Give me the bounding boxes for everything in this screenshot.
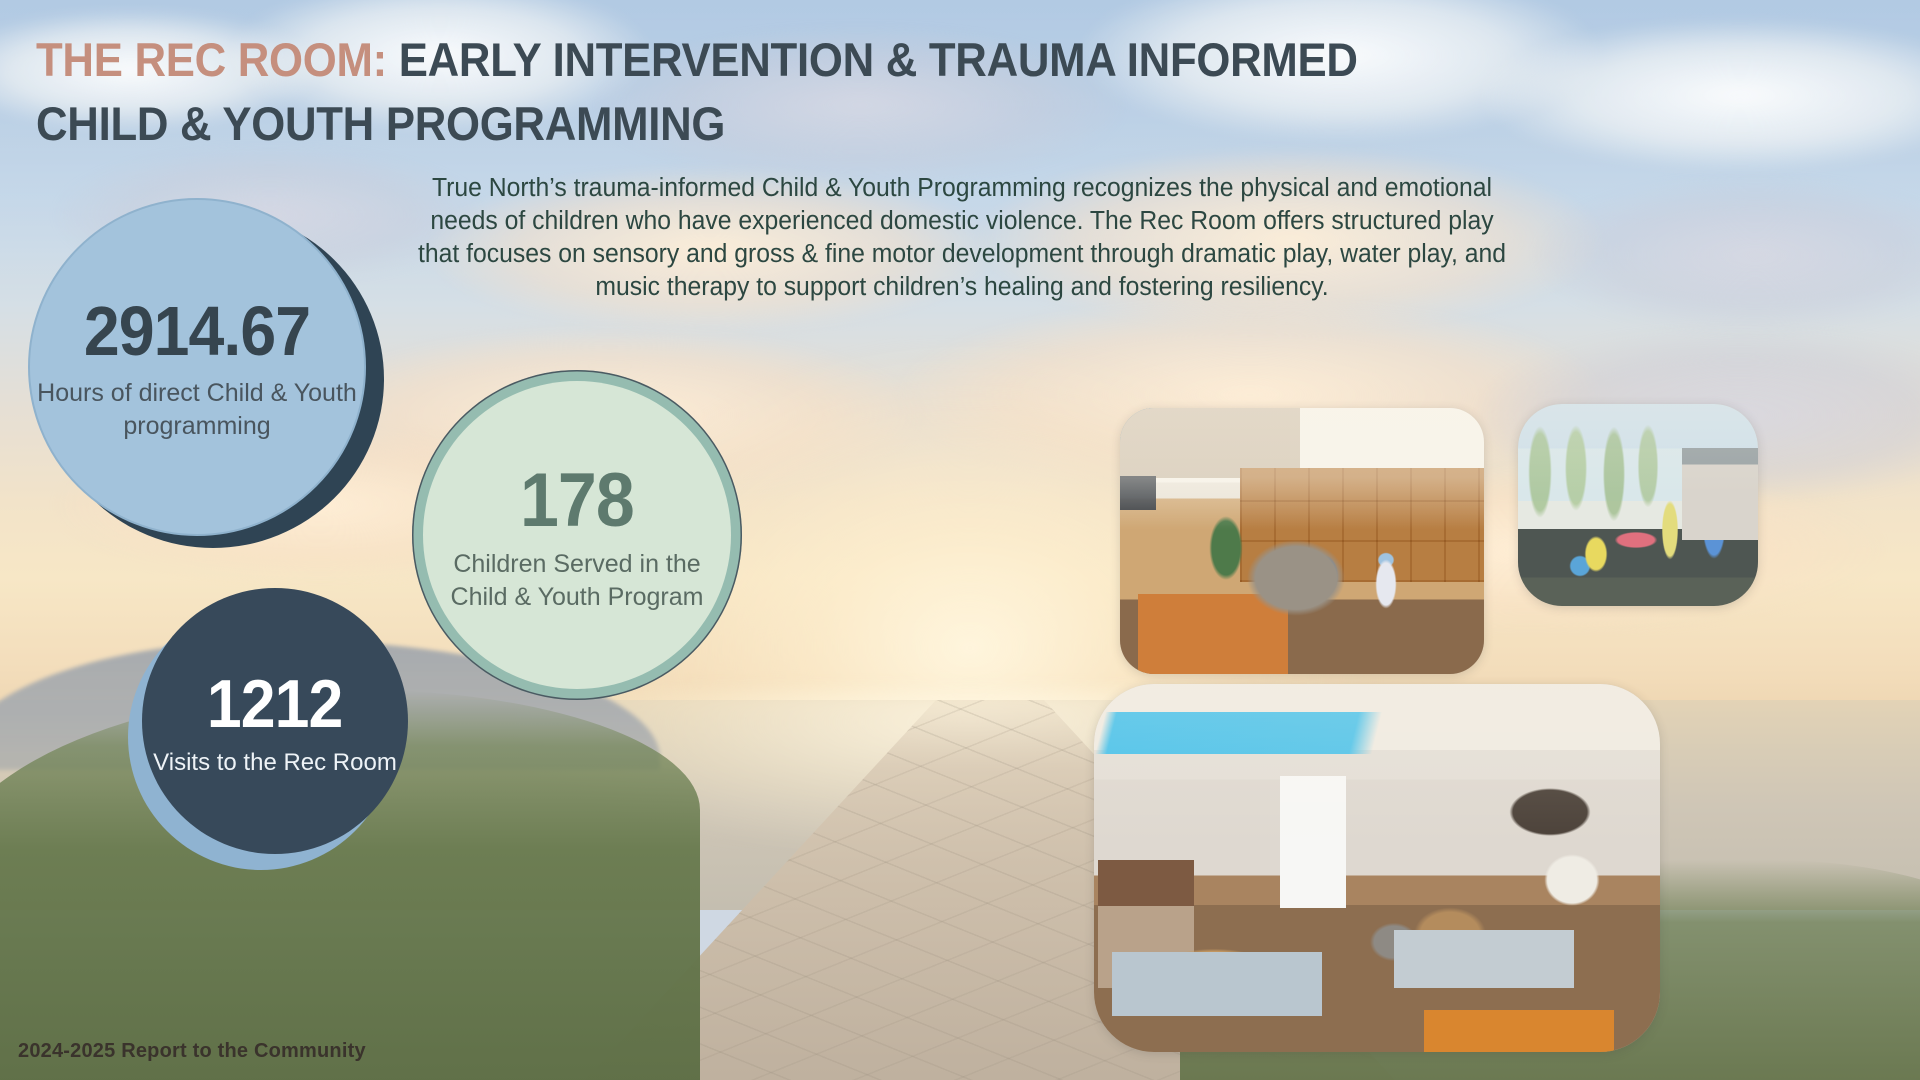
photo-room — [1094, 684, 1660, 1052]
stat-children-face: 178 Children Served in the Child & Youth… — [423, 381, 731, 689]
photo-room-image — [1094, 684, 1660, 1052]
stat-visits-caption: Visits to the Rec Room — [153, 747, 397, 778]
photo-playroom — [1120, 408, 1484, 674]
photo-playground — [1518, 404, 1758, 606]
photo-playground-image — [1518, 404, 1758, 606]
stat-hours-face: 2914.67 Hours of direct Child & Youth pr… — [28, 198, 366, 536]
stat-card-visits: 1212 Visits to the Rec Room — [128, 588, 398, 858]
photo-playroom-image — [1120, 408, 1484, 674]
stat-children-value: 178 — [520, 457, 634, 544]
page-title-accent: THE REC ROOM: — [36, 33, 387, 86]
stat-visits-face: 1212 Visits to the Rec Room — [142, 588, 408, 854]
stat-card-hours: 2914.67 Hours of direct Child & Youth pr… — [24, 198, 384, 548]
intro-paragraph: True North’s trauma-informed Child & You… — [409, 172, 1515, 304]
page-title: THE REC ROOM: EARLY INTERVENTION & TRAUM… — [36, 28, 1412, 156]
stat-card-children: 178 Children Served in the Child & Youth… — [412, 370, 744, 680]
stat-hours-caption: Hours of direct Child & Youth programmin… — [30, 377, 364, 443]
stat-visits-value: 1212 — [207, 665, 342, 743]
stat-children-caption: Children Served in the Child & Youth Pro… — [423, 548, 731, 614]
report-footer: 2024-2025 Report to the Community — [18, 1040, 366, 1063]
stat-hours-value: 2914.67 — [84, 291, 310, 371]
